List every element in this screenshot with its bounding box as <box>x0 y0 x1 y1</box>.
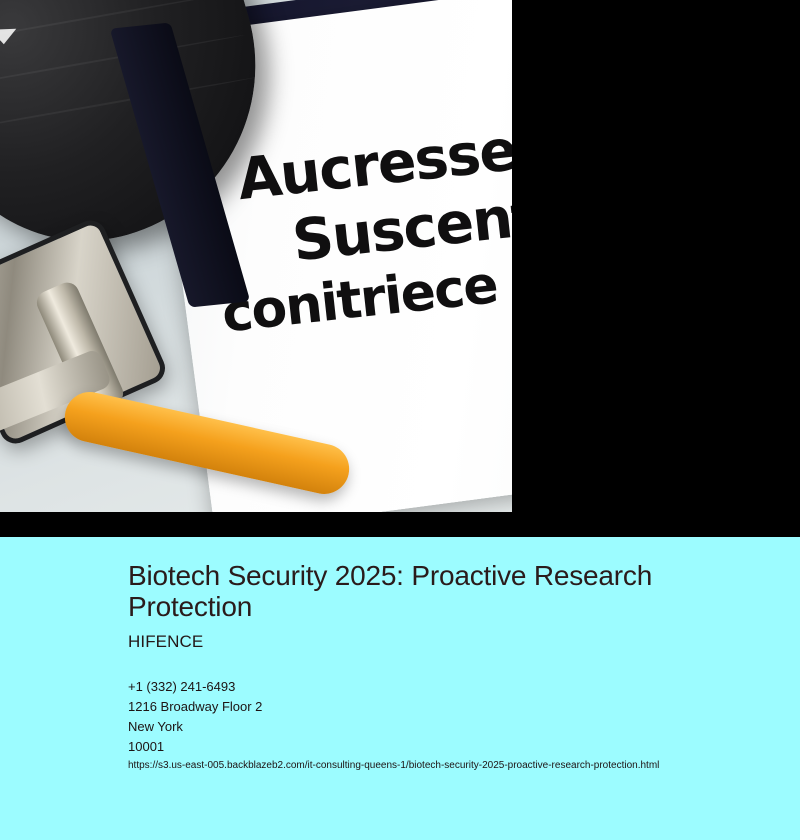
contact-phone[interactable]: +1 (332) 241-6493 <box>128 677 728 697</box>
source-url-link[interactable]: https://s3.us-east-005.backblazeb2.com/i… <box>128 759 659 773</box>
contact-city: New York <box>128 717 728 737</box>
hero-photo: Aucresse Suscent conitriece ⏰ ⌘ ⌗ ⌨ ⎘ ⎚ … <box>0 0 512 512</box>
contact-street: 1216 Broadway Floor 2 <box>128 697 728 717</box>
contact-block: +1 (332) 241-6493 1216 Broadway Floor 2 … <box>128 677 728 757</box>
article-info-panel: Biotech Security 2025: Proactive Researc… <box>0 537 800 840</box>
play-triangle-key-icon <box>0 29 17 45</box>
hero-media-band: Aucresse Suscent conitriece ⏰ ⌘ ⌗ ⌨ ⎘ ⎚ … <box>0 0 800 537</box>
brand-name: HIFENCE <box>128 632 203 652</box>
contact-postal-code: 10001 <box>128 737 728 757</box>
page-title: Biotech Security 2025: Proactive Researc… <box>128 561 658 622</box>
